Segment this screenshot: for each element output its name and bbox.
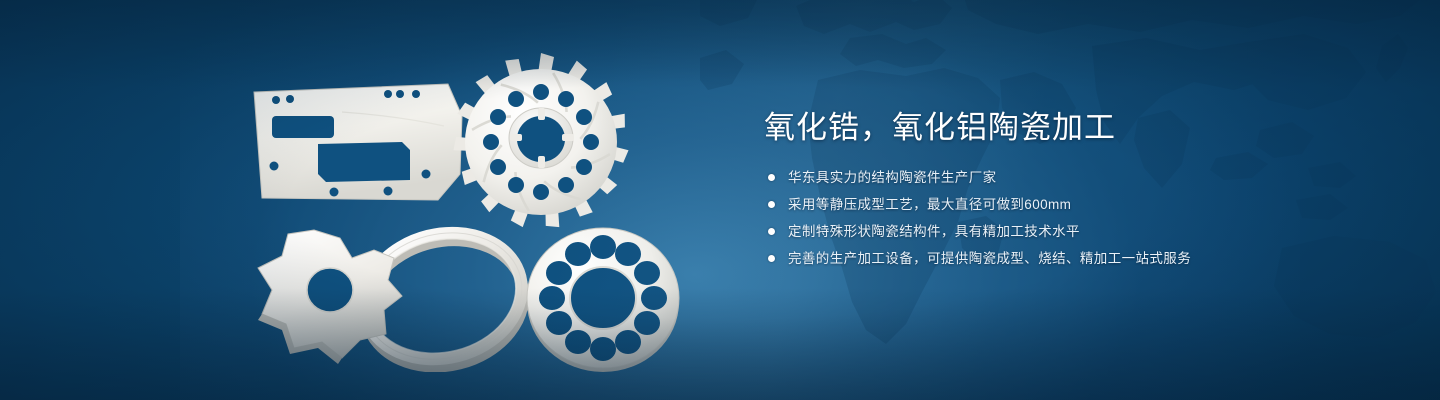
bullet-dot-icon xyxy=(768,201,775,208)
feature-text: 华东具实力的结构陶瓷件生产厂家 xyxy=(788,167,997,188)
banner-copy: 氧化锆，氧化铝陶瓷加工 华东具实力的结构陶瓷件生产厂家 采用等静压成型工艺，最大… xyxy=(764,108,1324,275)
feature-text: 采用等静压成型工艺，最大直径可做到600mm xyxy=(788,194,1071,215)
list-item: 定制特殊形状陶瓷结构件，具有精加工技术水平 xyxy=(768,221,1324,242)
list-item: 华东具实力的结构陶瓷件生产厂家 xyxy=(768,167,1324,188)
bullet-dot-icon xyxy=(768,228,775,235)
hero-banner: 氧化锆，氧化铝陶瓷加工 华东具实力的结构陶瓷件生产厂家 采用等静压成型工艺，最大… xyxy=(0,0,1440,400)
bullet-dot-icon xyxy=(768,174,775,181)
feature-list: 华东具实力的结构陶瓷件生产厂家 采用等静压成型工艺，最大直径可做到600mm 定… xyxy=(768,167,1324,269)
feature-text: 完善的生产加工设备，可提供陶瓷成型、烧结、精加工一站式服务 xyxy=(788,248,1191,269)
bullet-dot-icon xyxy=(768,255,775,262)
list-item: 采用等静压成型工艺，最大直径可做到600mm xyxy=(768,194,1324,215)
feature-text: 定制特殊形状陶瓷结构件，具有精加工技术水平 xyxy=(788,221,1080,242)
list-item: 完善的生产加工设备，可提供陶瓷成型、烧结、精加工一站式服务 xyxy=(768,248,1324,269)
page-title: 氧化锆，氧化铝陶瓷加工 xyxy=(764,108,1324,148)
